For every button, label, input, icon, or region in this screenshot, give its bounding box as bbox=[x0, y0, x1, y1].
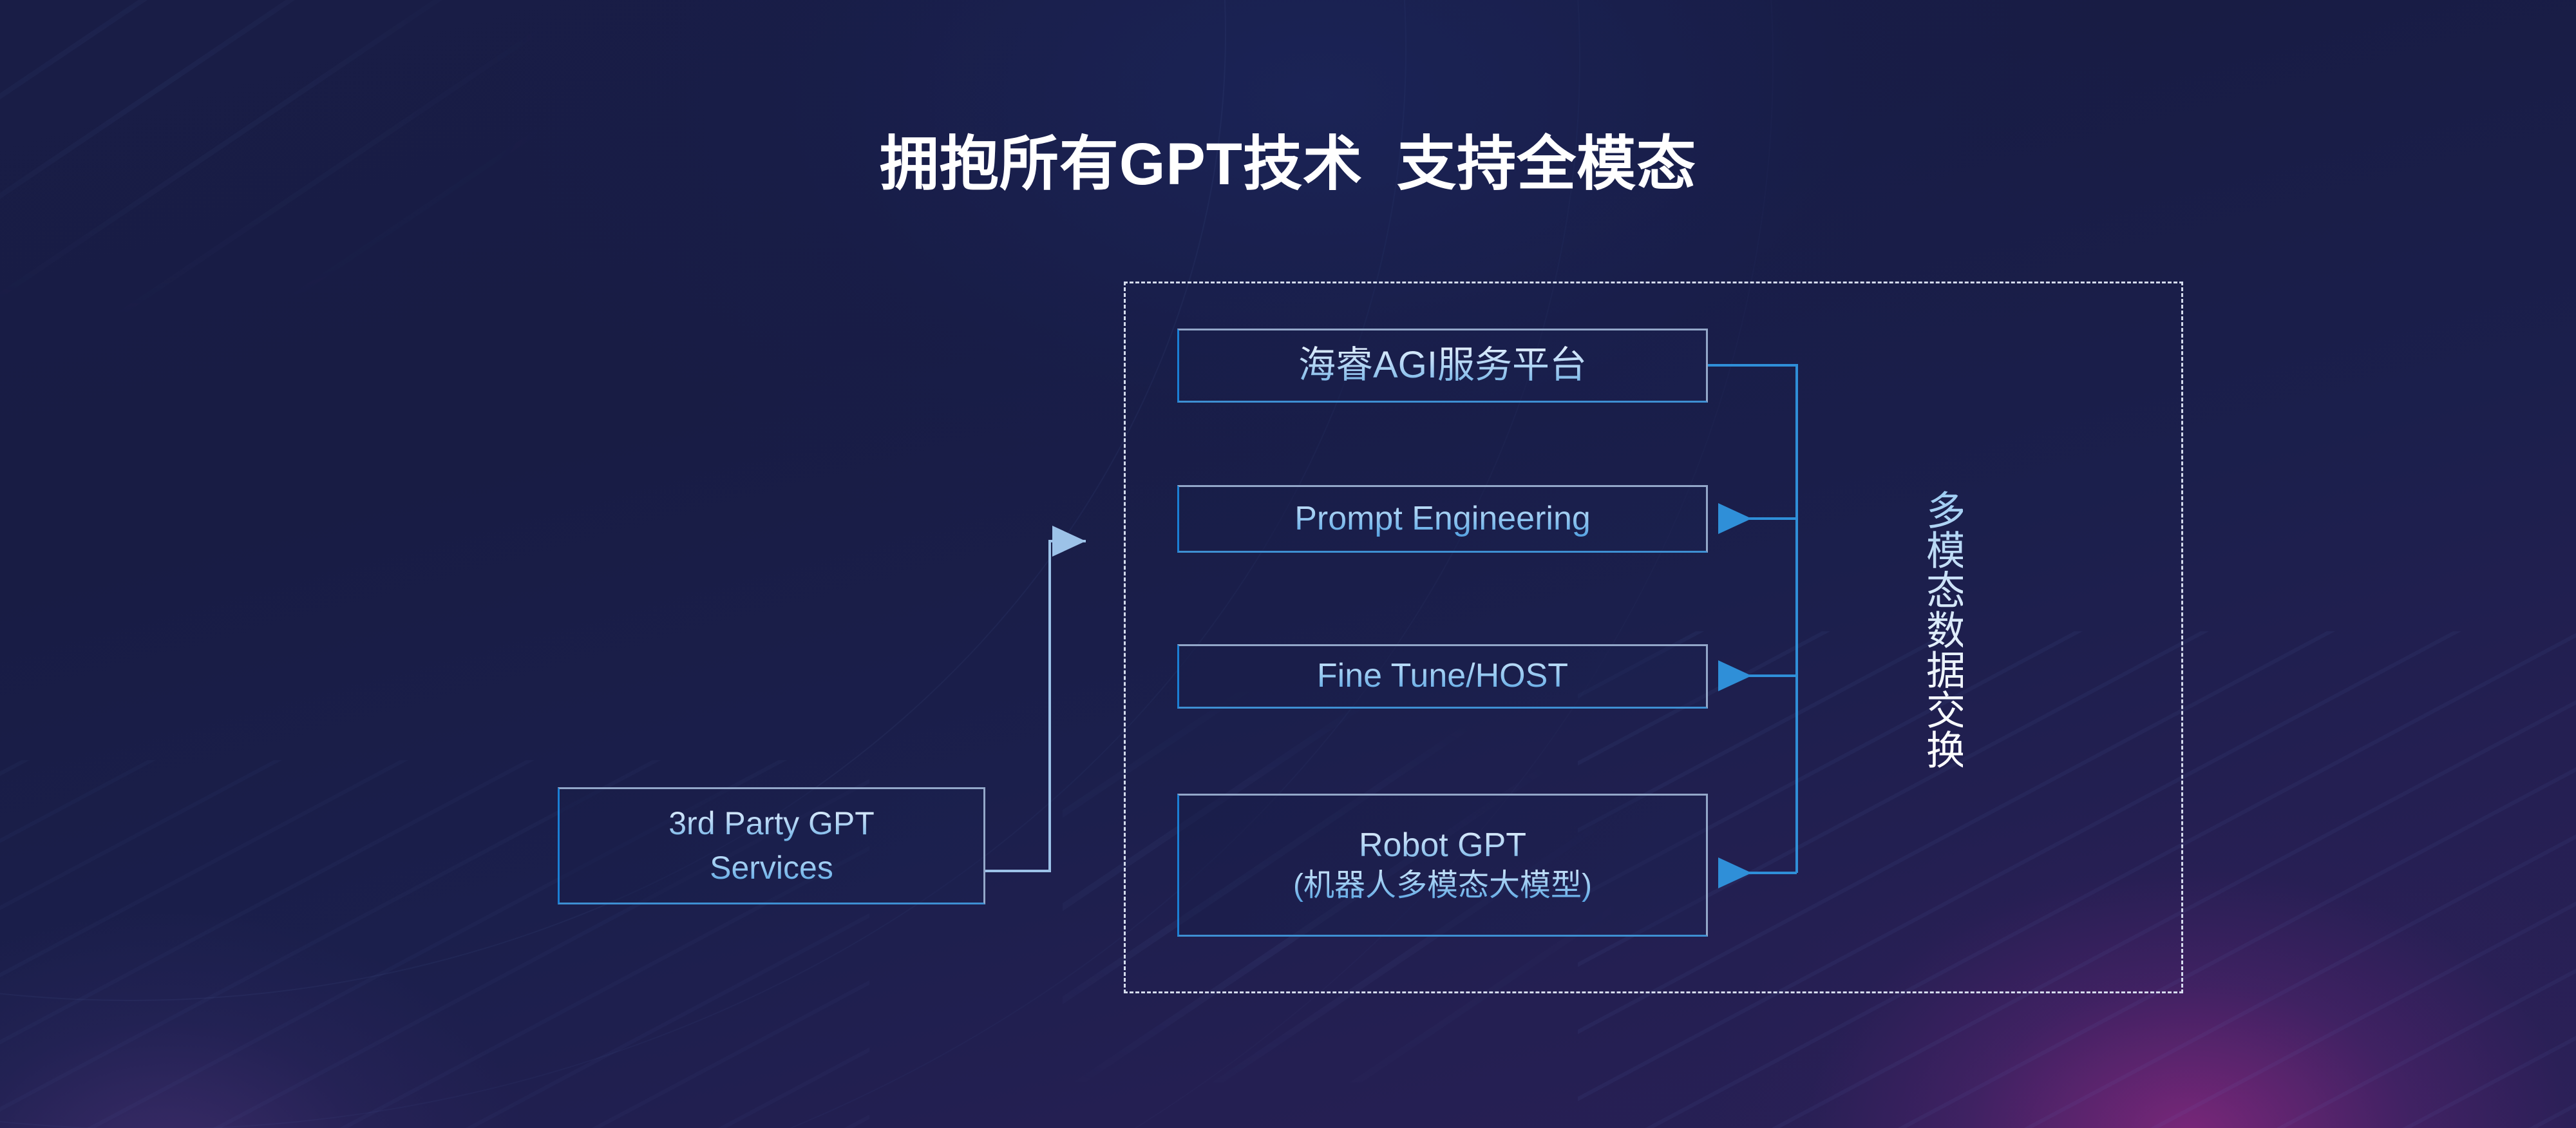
node-third-party-label-primary: 3rd Party GPT bbox=[668, 805, 875, 843]
slide-canvas: 拥抱所有GPT技术 支持全模态 海睿AGI服务平台 Prompt Enginee… bbox=[0, 0, 2576, 1128]
node-agi-platform[interactable]: 海睿AGI服务平台 bbox=[1177, 329, 1708, 403]
connector-third-party-to-group bbox=[985, 541, 1086, 871]
background-pixel-texture-top-left bbox=[0, 0, 966, 490]
node-robot-gpt-label-primary: Robot GPT bbox=[1359, 826, 1526, 865]
node-third-party-gpt-services[interactable]: 3rd Party GPT Services bbox=[558, 787, 985, 904]
node-robot-gpt[interactable]: Robot GPT (机器人多模态大模型) bbox=[1177, 794, 1708, 937]
node-fine-tune-host[interactable]: Fine Tune/HOST bbox=[1177, 644, 1708, 709]
node-agi-platform-label: 海睿AGI服务平台 bbox=[1298, 343, 1587, 387]
node-robot-gpt-label-secondary: (机器人多模态大模型) bbox=[1293, 868, 1592, 904]
bus-label-multimodal-data-exchange: 多模态数据交换 bbox=[1908, 490, 1963, 769]
node-prompt-engineering-label: Prompt Engineering bbox=[1294, 499, 1591, 539]
node-fine-tune-host-label: Fine Tune/HOST bbox=[1317, 656, 1568, 696]
page-title: 拥抱所有GPT技术 支持全模态 bbox=[0, 116, 2576, 202]
node-third-party-label-secondary: Services bbox=[710, 849, 833, 887]
node-prompt-engineering[interactable]: Prompt Engineering bbox=[1177, 485, 1708, 553]
